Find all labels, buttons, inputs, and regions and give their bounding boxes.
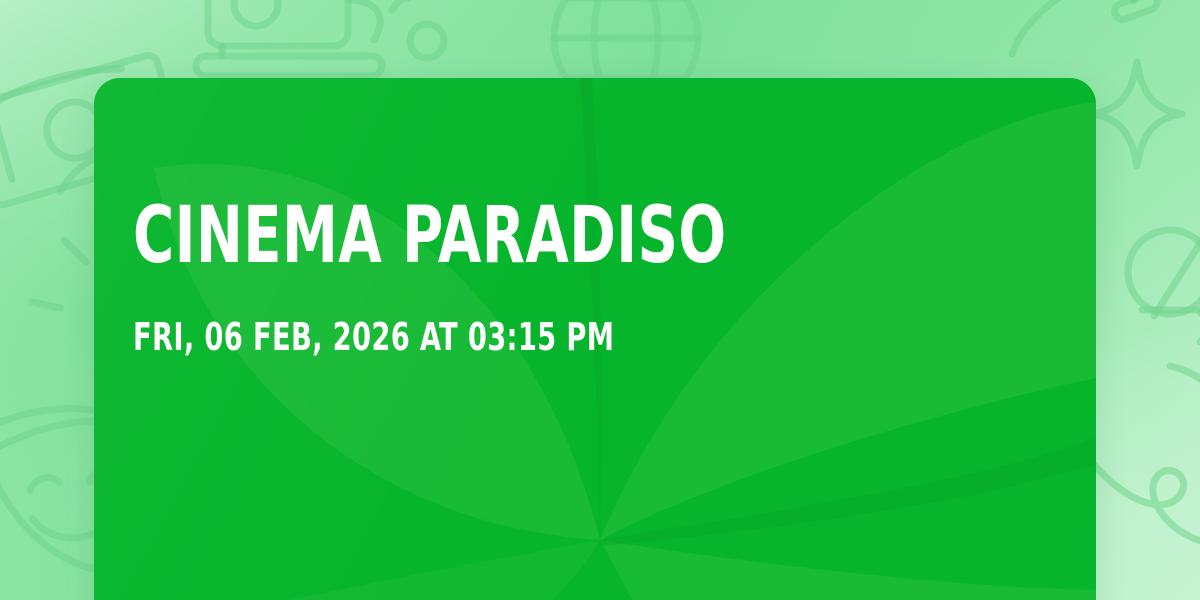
event-title: Cinema Paradiso [133, 198, 871, 274]
card-content: Cinema Paradiso Fri, 06 Feb, 2026 at 03:… [133, 198, 1056, 356]
event-card-canvas: Cinema Paradiso Fri, 06 Feb, 2026 at 03:… [0, 0, 1200, 600]
event-card[interactable]: Cinema Paradiso Fri, 06 Feb, 2026 at 03:… [94, 78, 1096, 600]
event-datetime: Fri, 06 Feb, 2026 at 03:15 PM [133, 318, 871, 356]
